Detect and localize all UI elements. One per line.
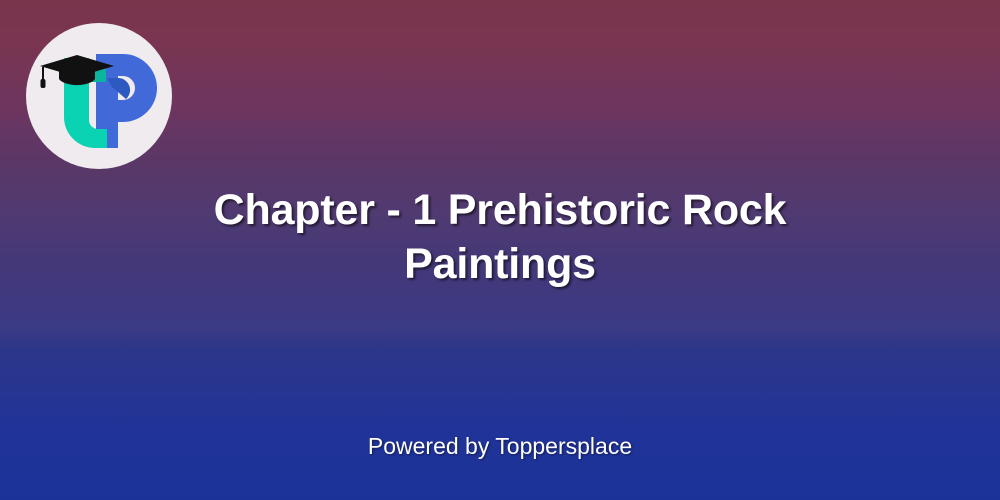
slide-footer-attribution: Powered by Toppersplace bbox=[0, 433, 1000, 460]
toppersplace-logo bbox=[26, 23, 172, 169]
slide-title: Chapter - 1 Prehistoric Rock Paintings bbox=[0, 183, 1000, 291]
logo-artwork bbox=[26, 23, 172, 169]
presentation-slide: Chapter - 1 Prehistoric Rock Paintings P… bbox=[0, 0, 1000, 500]
